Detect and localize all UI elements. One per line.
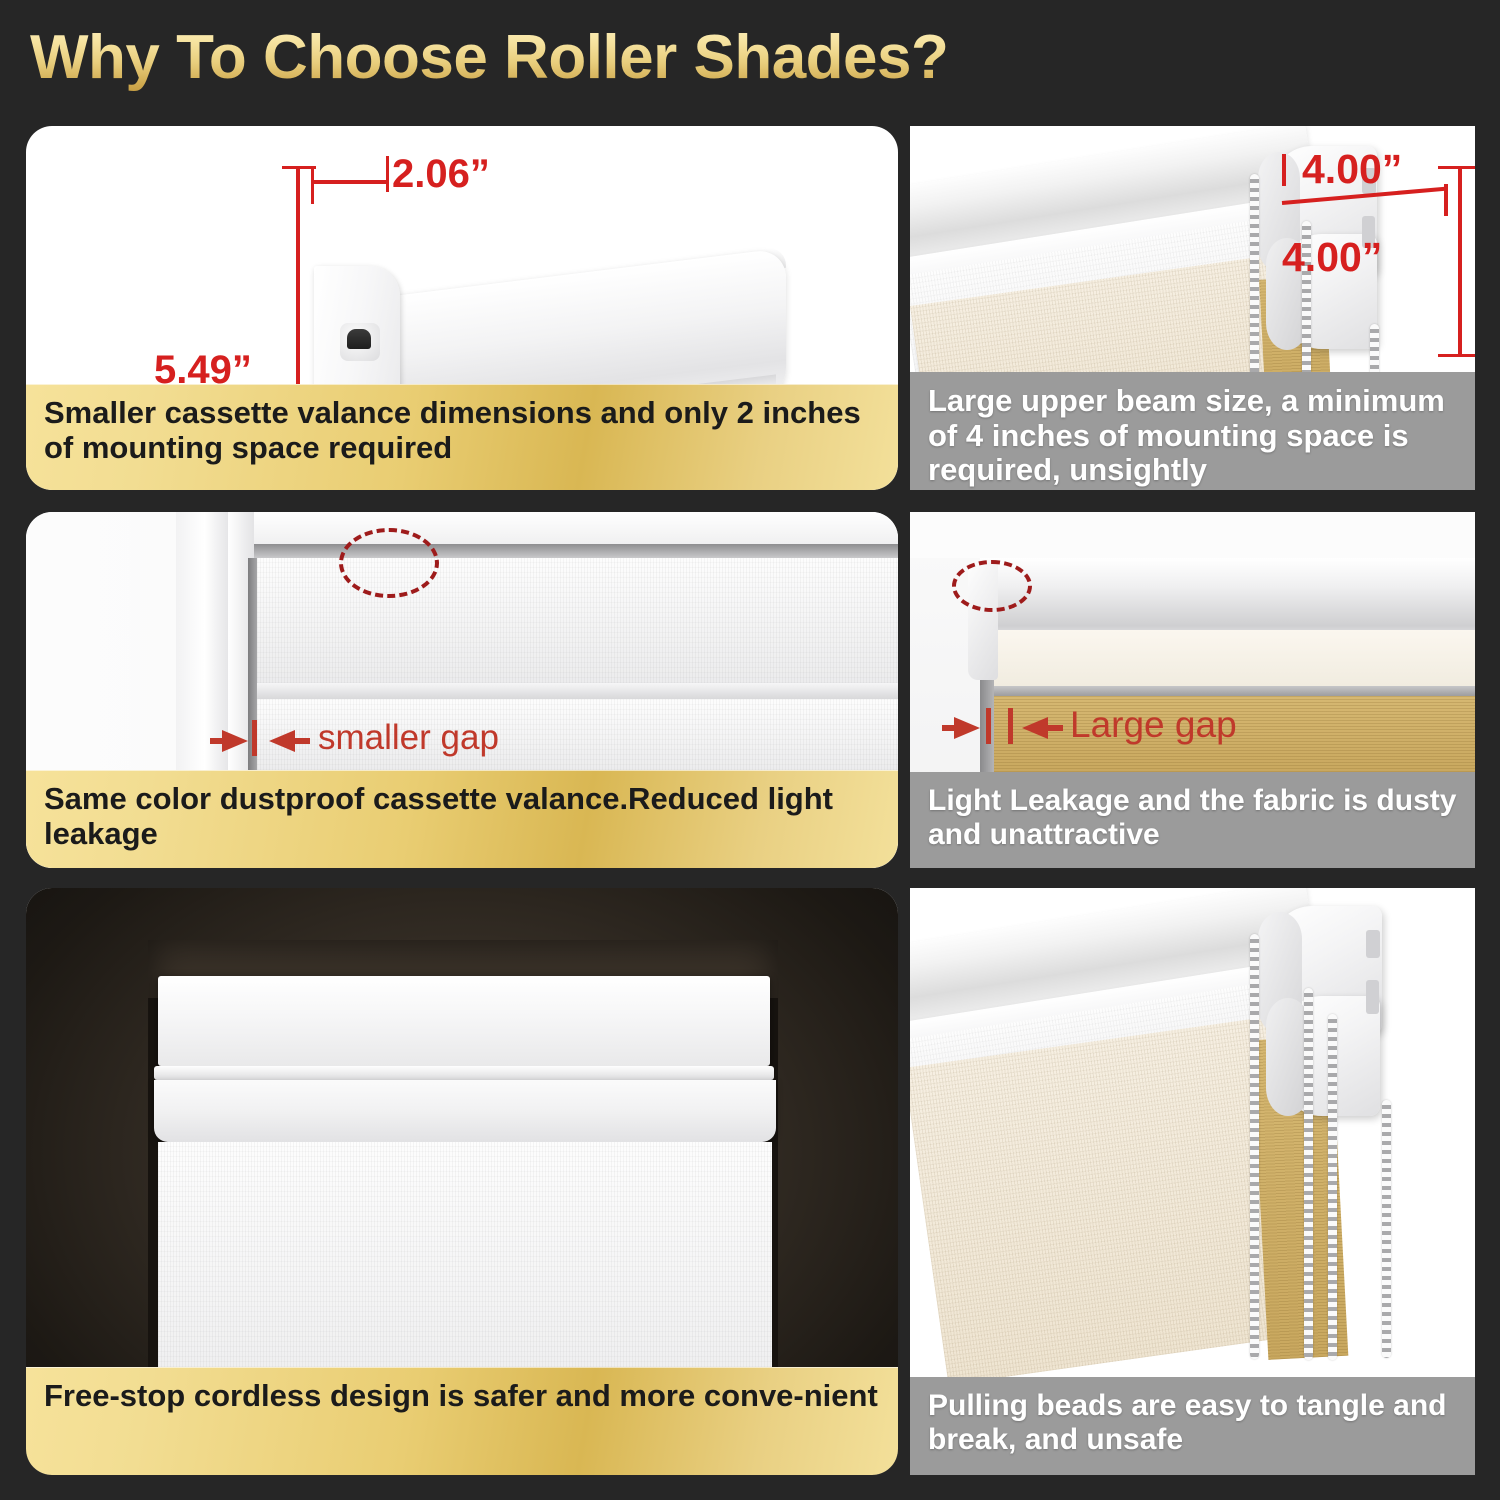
- dashed-circle-gap-corner: [952, 560, 1032, 612]
- beam-height-tick-top: [1438, 166, 1475, 169]
- bead-chain-4: [1382, 1100, 1391, 1358]
- gap-arrow-right: [269, 730, 295, 752]
- gap-arrow-left-tail: [210, 738, 226, 744]
- large-gap-arrow-right: [1022, 717, 1048, 739]
- bead-chain-1: [1250, 934, 1259, 1359]
- large-gap-arrow-left-tail: [942, 725, 958, 731]
- gap-label-smaller: smaller gap: [318, 718, 499, 758]
- panel-dustproof-cassette: smaller gap Same color dustproof cassett…: [26, 512, 898, 868]
- panel-light-leakage: Large gap Light Leakage and the fabric i…: [910, 512, 1475, 868]
- panel-free-stop-cordless: Free-stop cordless design is safer and m…: [26, 888, 898, 1475]
- caption-large-upper-beam: Large upper beam size, a minimum of 4 in…: [910, 372, 1475, 490]
- gap-arrow-right-tail: [294, 738, 310, 744]
- panel-smaller-cassette: 2.06” 5.49” Smaller cassette valance dim…: [26, 126, 898, 490]
- bead-chain-2: [1304, 988, 1313, 1360]
- beam-height-label: 4.00”: [1282, 234, 1382, 281]
- beam-height-tick-bottom: [1438, 354, 1475, 357]
- large-gap-arrow-right-tail: [1047, 725, 1063, 731]
- caption-free-stop-cordless: Free-stop cordless design is safer and m…: [26, 1367, 898, 1475]
- large-gap-bar-2: [1008, 708, 1013, 744]
- infographic-page: Why To Choose Roller Shades? 2.06” 5.49”…: [0, 0, 1500, 1500]
- beam-width-label: 4.00”: [1302, 146, 1402, 193]
- panel-large-upper-beam: 4.00” 4.00” Large upper beam size, a min…: [910, 126, 1475, 490]
- panel-pulling-beads: Pulling beads are easy to tangle and bre…: [910, 888, 1475, 1475]
- caption-pulling-beads: Pulling beads are easy to tangle and bre…: [910, 1377, 1475, 1475]
- caption-dustproof-cassette: Same color dustproof cassette valance.Re…: [26, 770, 898, 868]
- width-dimension-line: [311, 166, 314, 204]
- beam-width-tick-right: [1444, 184, 1448, 216]
- caption-light-leakage: Light Leakage and the fabric is dusty an…: [910, 772, 1475, 868]
- caption-smaller-cassette: Smaller cassette valance dimensions and …: [26, 384, 898, 490]
- page-title: Why To Choose Roller Shades?: [30, 22, 948, 93]
- gap-measure-bar: [252, 720, 257, 756]
- beam-width-tick-left: [1282, 154, 1286, 186]
- width-dimension-tick-right: [386, 156, 389, 192]
- height-dimension-tick-top: [282, 166, 316, 169]
- large-gap-bar-1: [986, 708, 991, 744]
- width-dimension-label: 2.06”: [392, 152, 490, 197]
- gap-label-large: Large gap: [1070, 704, 1237, 746]
- beam-height-rule: [1458, 166, 1462, 356]
- bead-chain-3: [1328, 1014, 1337, 1360]
- dashed-circle-cassette-edge: [339, 528, 439, 598]
- width-dimension-rule: [311, 180, 389, 184]
